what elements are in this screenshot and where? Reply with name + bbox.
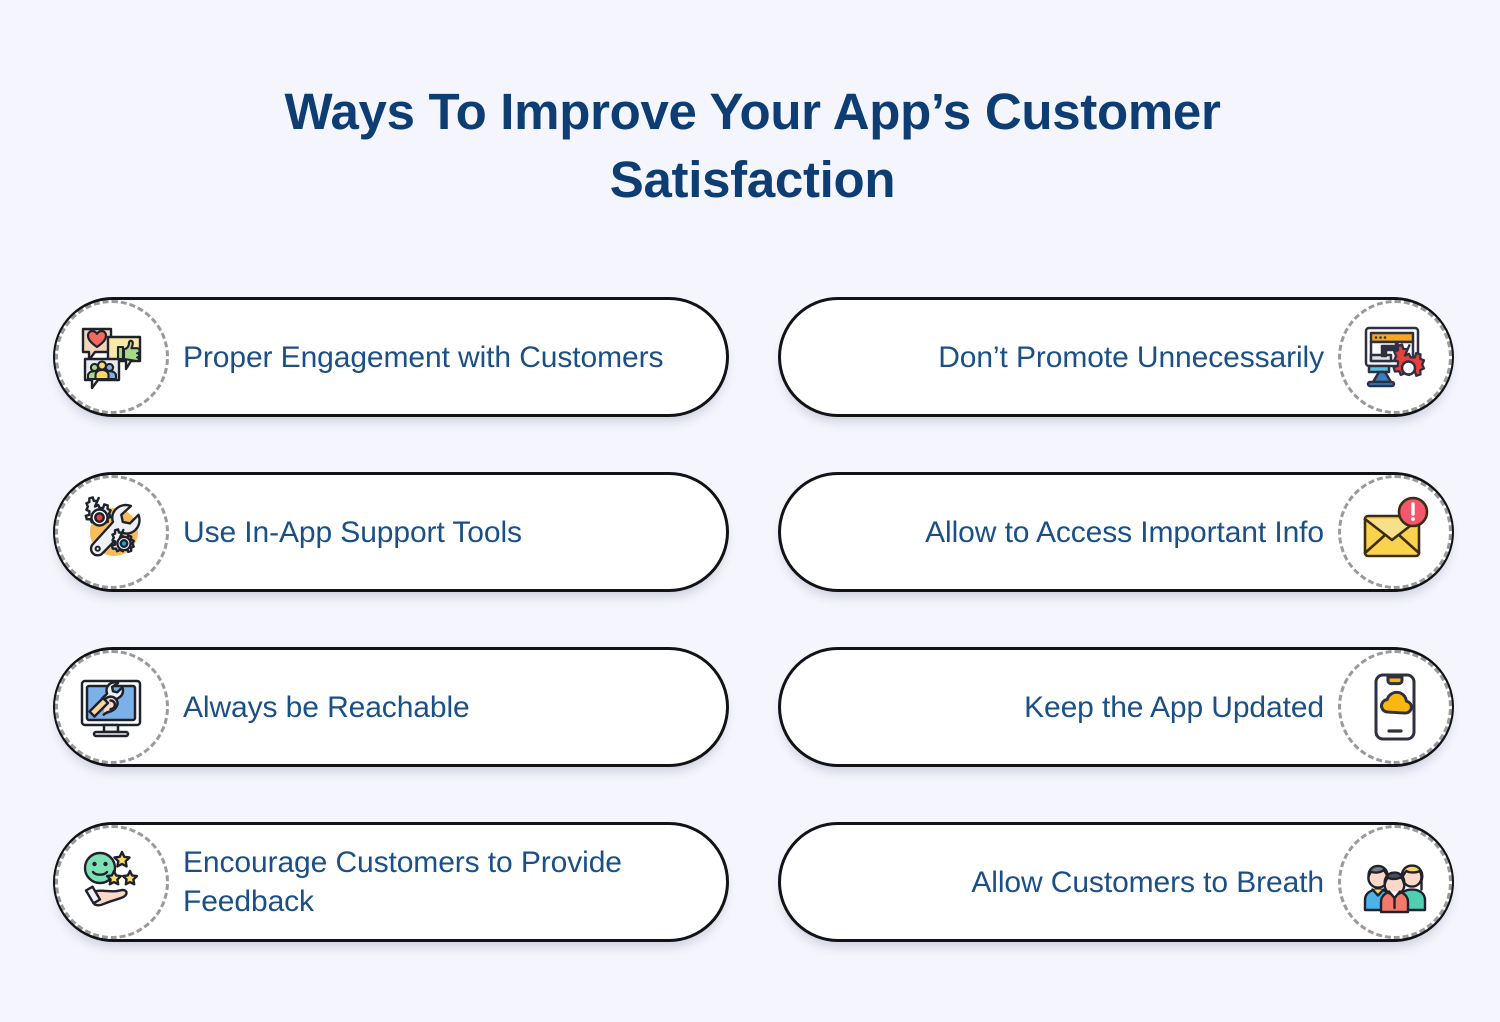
monitor-gear-promote-icon <box>1357 319 1433 395</box>
icon-ring <box>55 650 169 764</box>
chat-bubbles-engagement-icon <box>74 319 150 395</box>
icon-ring <box>1338 475 1452 589</box>
card-label: Always be Reachable <box>169 688 726 727</box>
envelope-alert-icon <box>1357 494 1433 570</box>
card-keep-app-updated[interactable]: Keep the App Updated <box>778 647 1454 767</box>
card-label: Allow Customers to Breath <box>781 863 1338 902</box>
icon-ring <box>1338 650 1452 764</box>
left-column: Proper Engagement with Customers <box>53 297 729 942</box>
infographic-page: Ways To Improve Your App’s Customer Sati… <box>0 0 1500 1022</box>
card-label: Use In-App Support Tools <box>169 513 726 552</box>
card-always-be-reachable[interactable]: Always be Reachable <box>53 647 729 767</box>
icon-ring <box>55 825 169 939</box>
icon-ring <box>1338 300 1452 414</box>
phone-cloud-update-icon <box>1357 669 1433 745</box>
page-title-text: Ways To Improve Your App’s Customer Sati… <box>190 78 1315 214</box>
people-group-icon <box>1357 844 1433 920</box>
icon-ring <box>55 475 169 589</box>
wrench-gears-icon <box>74 494 150 570</box>
card-label: Encourage Customers to Provide Feedback <box>169 843 726 921</box>
card-label: Keep the App Updated <box>781 688 1338 727</box>
card-allow-customers-breath[interactable]: Allow Customers to Breath <box>778 822 1454 942</box>
card-dont-promote[interactable]: Don’t Promote Unnecessarily <box>778 297 1454 417</box>
icon-ring <box>1338 825 1452 939</box>
card-encourage-feedback[interactable]: Encourage Customers to Provide Feedback <box>53 822 729 942</box>
card-label: Allow to Access Important Info <box>781 513 1338 552</box>
page-title: Ways To Improve Your App’s Customer Sati… <box>190 78 1315 214</box>
card-in-app-support-tools[interactable]: Use In-App Support Tools <box>53 472 729 592</box>
hand-smiley-stars-icon <box>74 844 150 920</box>
icon-ring <box>55 300 169 414</box>
card-label: Proper Engagement with Customers <box>169 338 726 377</box>
card-access-important-info[interactable]: Allow to Access Important Info <box>778 472 1454 592</box>
monitor-wrench-hand-icon <box>74 669 150 745</box>
card-proper-engagement[interactable]: Proper Engagement with Customers <box>53 297 729 417</box>
card-label: Don’t Promote Unnecessarily <box>781 338 1338 377</box>
right-column: Don’t Promote Unnecessarily <box>778 297 1454 942</box>
